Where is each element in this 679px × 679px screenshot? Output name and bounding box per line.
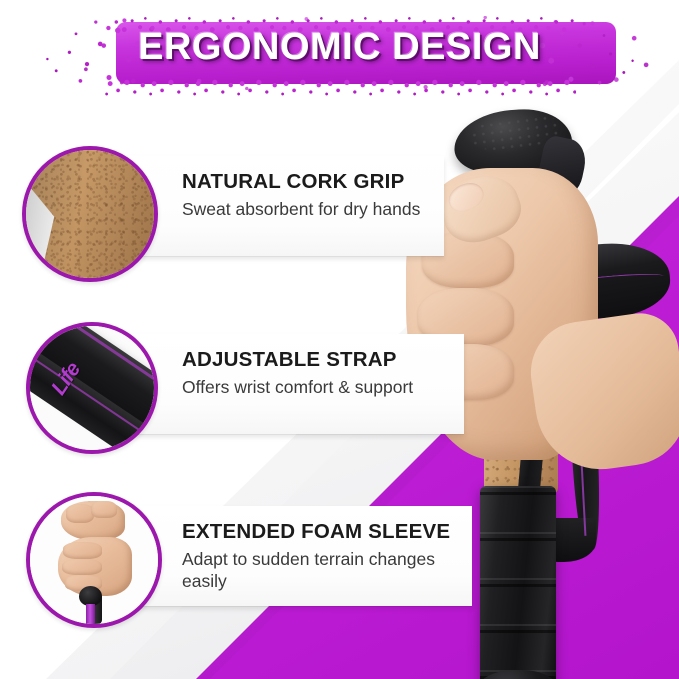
feature-row-adjustable-strap: ADJUSTABLE STRAP Offers wrist comfort & … — [0, 330, 460, 438]
feature-description: Sweat absorbent for dry hands — [182, 198, 436, 220]
thumbnail-image: Life — [30, 326, 154, 450]
feature-thumbnail-cork-grip — [22, 146, 158, 282]
thumbnail-image — [30, 496, 158, 624]
upper-finger-2 — [91, 501, 117, 518]
pole-shaft-small — [86, 604, 95, 627]
header-banner: ERGONOMIC DESIGN — [0, 2, 679, 106]
feature-thumbnail-foam-sleeve — [26, 492, 162, 628]
feature-text-block: EXTENDED FOAM SLEEVE Adapt to sudden ter… — [182, 520, 464, 592]
feature-text-block: NATURAL CORK GRIP Sweat absorbent for dr… — [182, 170, 436, 220]
cork-shading — [26, 150, 154, 278]
spray-fringe-bottom — [104, 78, 576, 98]
infographic-canvas: Life ERGONOMIC DESIGN NATURAL CORK GRIP … — [0, 0, 679, 679]
thumbnail-image — [26, 150, 154, 278]
lower-finger-1 — [63, 542, 101, 559]
feature-title: ADJUSTABLE STRAP — [182, 348, 456, 372]
page-title: ERGONOMIC DESIGN — [0, 26, 679, 69]
feature-description: Adapt to sudden terrain changes easily — [182, 548, 464, 592]
feature-description: Offers wrist comfort & support — [182, 376, 456, 398]
lower-finger-2 — [62, 559, 102, 576]
upper-finger-1 — [66, 504, 94, 523]
feature-thumbnail-adjustable-strap: Life — [26, 322, 158, 454]
feature-row-foam-sleeve: EXTENDED FOAM SLEEVE Adapt to sudden ter… — [0, 502, 460, 610]
feature-text-block: ADJUSTABLE STRAP Offers wrist comfort & … — [182, 348, 456, 398]
feature-title: NATURAL CORK GRIP — [182, 170, 436, 194]
feature-title: EXTENDED FOAM SLEEVE — [182, 520, 464, 544]
feature-row-cork-grip: NATURAL CORK GRIP Sweat absorbent for dr… — [0, 152, 460, 260]
